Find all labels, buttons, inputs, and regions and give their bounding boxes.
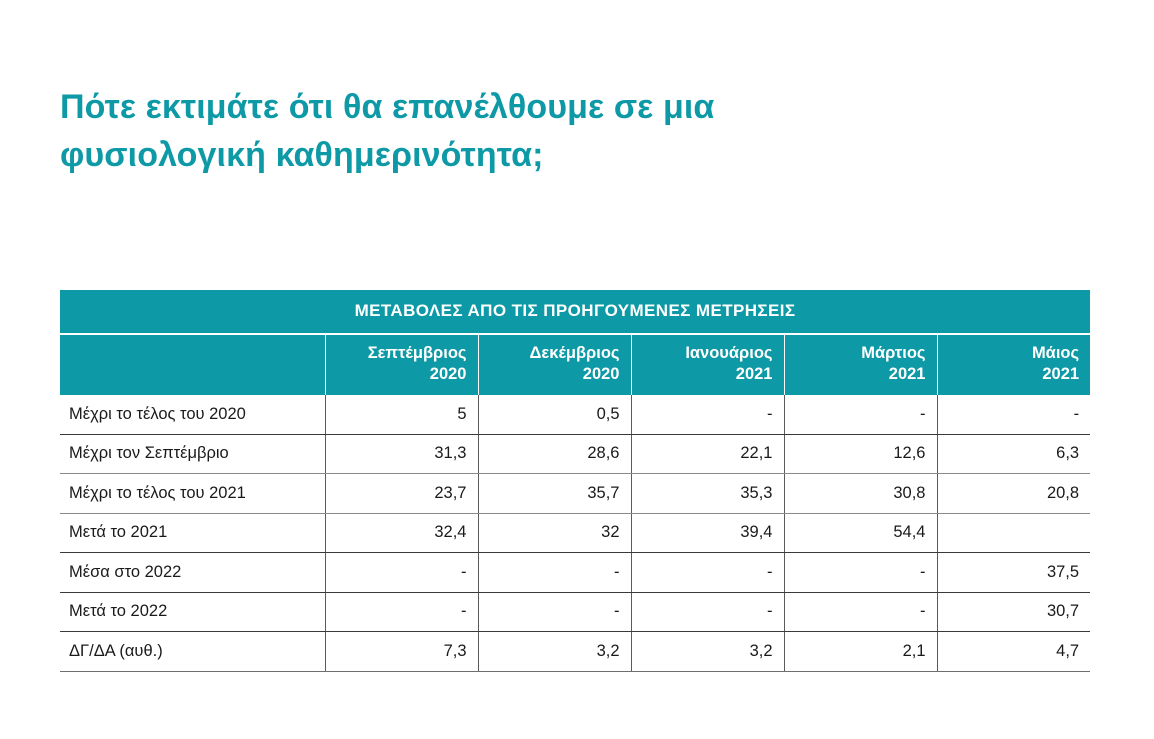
table-row: ΔΓ/ΔΑ (αυθ.) 7,3 3,2 3,2 2,1 4,7 bbox=[60, 632, 1090, 672]
column-header-year: 2021 bbox=[1042, 365, 1079, 383]
cell-value: 0,5 bbox=[478, 395, 631, 434]
cell-value-empty bbox=[937, 513, 1090, 553]
cell-value: 22,1 bbox=[631, 434, 784, 474]
column-header-year: 2020 bbox=[583, 365, 620, 383]
column-header-year: 2020 bbox=[430, 365, 467, 383]
table-row: Μέσα στο 2022 - - - - 37,5 bbox=[60, 553, 1090, 593]
cell-value: 5 bbox=[325, 395, 478, 434]
table-row: Μέχρι το τέλος του 2020 5 0,5 - - - bbox=[60, 395, 1090, 434]
column-header-year: 2021 bbox=[736, 365, 773, 383]
table-banner-title: ΜΕΤΑΒΟΛΕΣ ΑΠΟ ΤΙΣ ΠΡΟΗΓΟΥΜΕΝΕΣ ΜΕΤΡΗΣΕΙΣ bbox=[60, 290, 1090, 334]
row-label: Μετά το 2021 bbox=[60, 513, 325, 553]
cell-value: 54,4 bbox=[784, 513, 937, 553]
column-header-dec-2020: Δεκέμβριος 2020 bbox=[478, 334, 631, 395]
cell-value: 37,5 bbox=[937, 553, 1090, 593]
column-header-month: Δεκέμβριος bbox=[530, 344, 620, 362]
row-label: Μέχρι το τέλος του 2021 bbox=[60, 474, 325, 514]
cell-value: 2,1 bbox=[784, 632, 937, 672]
table-row: Μέχρι το τέλος του 2021 23,7 35,7 35,3 3… bbox=[60, 474, 1090, 514]
column-header-month: Ιανουάριος bbox=[685, 344, 772, 362]
table-column-header-row: Σεπτέμβριος 2020 Δεκέμβριος 2020 Ιανουάρ… bbox=[60, 334, 1090, 395]
row-label: Μέσα στο 2022 bbox=[60, 553, 325, 593]
cell-value: 23,7 bbox=[325, 474, 478, 514]
cell-value: - bbox=[631, 553, 784, 593]
cell-value: 3,2 bbox=[478, 632, 631, 672]
row-label: Μέχρι το τέλος του 2020 bbox=[60, 395, 325, 434]
cell-value: 35,3 bbox=[631, 474, 784, 514]
page-title: Πότε εκτιμάτε ότι θα επανέλθουμε σε μια … bbox=[60, 83, 960, 180]
cell-value: 4,7 bbox=[937, 632, 1090, 672]
cell-value: - bbox=[937, 395, 1090, 434]
table-corner-cell bbox=[60, 334, 325, 395]
cell-value: 30,7 bbox=[937, 592, 1090, 632]
column-header-month: Σεπτέμβριος bbox=[368, 344, 467, 362]
cell-value: - bbox=[478, 553, 631, 593]
column-header-month: Μάρτιος bbox=[861, 344, 925, 362]
cell-value: - bbox=[784, 395, 937, 434]
cell-value: 39,4 bbox=[631, 513, 784, 553]
cell-value: 12,6 bbox=[784, 434, 937, 474]
cell-value: - bbox=[631, 592, 784, 632]
row-label: ΔΓ/ΔΑ (αυθ.) bbox=[60, 632, 325, 672]
table-head: ΜΕΤΑΒΟΛΕΣ ΑΠΟ ΤΙΣ ΠΡΟΗΓΟΥΜΕΝΕΣ ΜΕΤΡΗΣΕΙΣ… bbox=[60, 290, 1090, 395]
column-header-year: 2021 bbox=[889, 365, 926, 383]
column-header-may-2021: Μάιος 2021 bbox=[937, 334, 1090, 395]
column-header-month: Μάιος bbox=[1032, 344, 1079, 362]
column-header-sep-2020: Σεπτέμβριος 2020 bbox=[325, 334, 478, 395]
cell-value: - bbox=[631, 395, 784, 434]
cell-value: 31,3 bbox=[325, 434, 478, 474]
cell-value: 20,8 bbox=[937, 474, 1090, 514]
cell-value: 30,8 bbox=[784, 474, 937, 514]
cell-value: 7,3 bbox=[325, 632, 478, 672]
table-row: Μέχρι τον Σεπτέμβριο 31,3 28,6 22,1 12,6… bbox=[60, 434, 1090, 474]
cell-value: - bbox=[325, 553, 478, 593]
cell-value: 6,3 bbox=[937, 434, 1090, 474]
results-table-container: ΜΕΤΑΒΟΛΕΣ ΑΠΟ ΤΙΣ ΠΡΟΗΓΟΥΜΕΝΕΣ ΜΕΤΡΗΣΕΙΣ… bbox=[60, 290, 1090, 672]
cell-value: 35,7 bbox=[478, 474, 631, 514]
cell-value: 28,6 bbox=[478, 434, 631, 474]
column-header-jan-2021: Ιανουάριος 2021 bbox=[631, 334, 784, 395]
cell-value: 32,4 bbox=[325, 513, 478, 553]
table-row: Μετά το 2021 32,4 32 39,4 54,4 bbox=[60, 513, 1090, 553]
table-banner-row: ΜΕΤΑΒΟΛΕΣ ΑΠΟ ΤΙΣ ΠΡΟΗΓΟΥΜΕΝΕΣ ΜΕΤΡΗΣΕΙΣ bbox=[60, 290, 1090, 334]
cell-value: - bbox=[325, 592, 478, 632]
cell-value: 3,2 bbox=[631, 632, 784, 672]
table-row: Μετά το 2022 - - - - 30,7 bbox=[60, 592, 1090, 632]
cell-value: - bbox=[478, 592, 631, 632]
row-label: Μετά το 2022 bbox=[60, 592, 325, 632]
column-header-mar-2021: Μάρτιος 2021 bbox=[784, 334, 937, 395]
cell-value: 32 bbox=[478, 513, 631, 553]
results-table: ΜΕΤΑΒΟΛΕΣ ΑΠΟ ΤΙΣ ΠΡΟΗΓΟΥΜΕΝΕΣ ΜΕΤΡΗΣΕΙΣ… bbox=[60, 290, 1090, 672]
cell-value: - bbox=[784, 553, 937, 593]
row-label: Μέχρι τον Σεπτέμβριο bbox=[60, 434, 325, 474]
cell-value: - bbox=[784, 592, 937, 632]
table-body: Μέχρι το τέλος του 2020 5 0,5 - - - Μέχρ… bbox=[60, 395, 1090, 671]
